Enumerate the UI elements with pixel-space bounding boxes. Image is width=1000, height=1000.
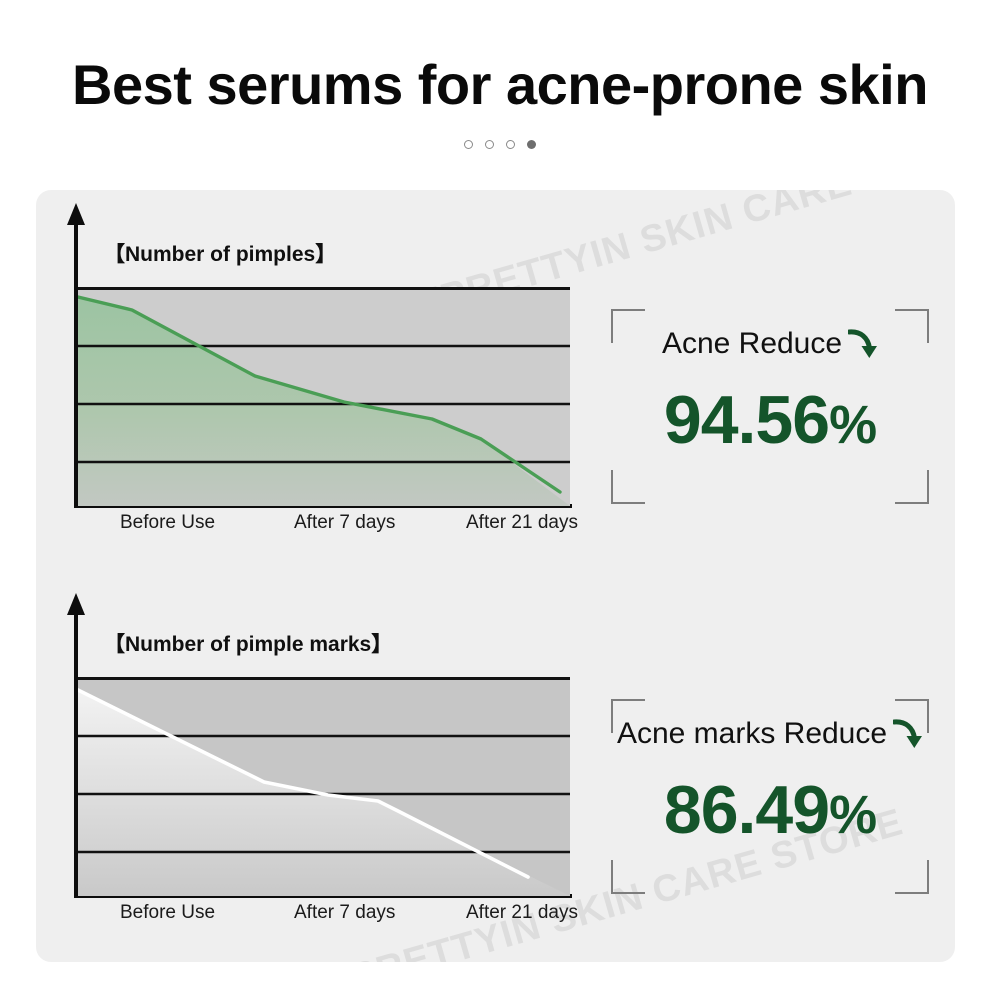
x-axis-labels-pimples: Before Use After 7 days After 21 days: [78, 512, 578, 540]
stat-unit-acne-marks-reduce: %: [829, 785, 876, 845]
page-title: Best serums for acne-prone skin: [0, 52, 1000, 117]
pagination-dot-2[interactable]: [485, 140, 494, 149]
plot-area-pimples: [78, 287, 570, 506]
pagination-dot-3[interactable]: [506, 140, 515, 149]
stat-panel-acne-reduce: Acne Reduce 94.56%: [611, 309, 929, 504]
pagination-dots[interactable]: [0, 140, 1000, 149]
chart-caption-pimple-marks: 【Number of pimple marks】: [104, 628, 392, 658]
x-label-before-use: Before Use: [120, 902, 215, 924]
curved-down-arrow-icon: [893, 718, 923, 750]
pagination-dot-1[interactable]: [464, 140, 473, 149]
x-axis-labels-pimple-marks: Before Use After 7 days After 21 days: [78, 902, 578, 930]
stat-value-acne-reduce: 94.56%: [611, 381, 929, 459]
x-label-before-use: Before Use: [120, 512, 215, 534]
stat-head-acne-reduce: Acne Reduce: [611, 327, 929, 361]
x-label-after-21-days: After 21 days: [466, 512, 578, 534]
pagination-dot-4-active[interactable]: [527, 140, 536, 149]
stat-panel-acne-marks-reduce: Acne marks Reduce 86.49%: [611, 699, 929, 894]
corner-bracket-bottom-right-icon: [895, 860, 929, 894]
chart-caption-pimples: 【Number of pimples】: [104, 238, 336, 268]
stat-value-acne-marks-reduce: 86.49%: [611, 771, 929, 849]
stat-number-acne-marks-reduce: 86.49: [664, 772, 829, 848]
stat-number-acne-reduce: 94.56: [664, 382, 829, 458]
x-label-after-7-days: After 7 days: [294, 902, 395, 924]
stat-label-acne-marks-reduce: Acne marks Reduce: [617, 717, 887, 751]
corner-bracket-bottom-right-icon: [895, 470, 929, 504]
stat-unit-acne-reduce: %: [829, 395, 876, 455]
results-card: JOYPRETTYIN SKIN CARE STORE JOYPRETTYIN …: [36, 190, 955, 962]
corner-bracket-bottom-left-icon: [611, 470, 645, 504]
plot-area-pimple-marks: [78, 677, 570, 896]
corner-bracket-bottom-left-icon: [611, 860, 645, 894]
x-label-after-7-days: After 7 days: [294, 512, 395, 534]
x-label-after-21-days: After 21 days: [466, 902, 578, 924]
stat-label-acne-reduce: Acne Reduce: [662, 327, 842, 361]
curved-down-arrow-icon: [848, 328, 878, 360]
stat-head-acne-marks-reduce: Acne marks Reduce: [611, 717, 929, 751]
page-root: Best serums for acne-prone skin JOYPRETT…: [0, 0, 1000, 1000]
